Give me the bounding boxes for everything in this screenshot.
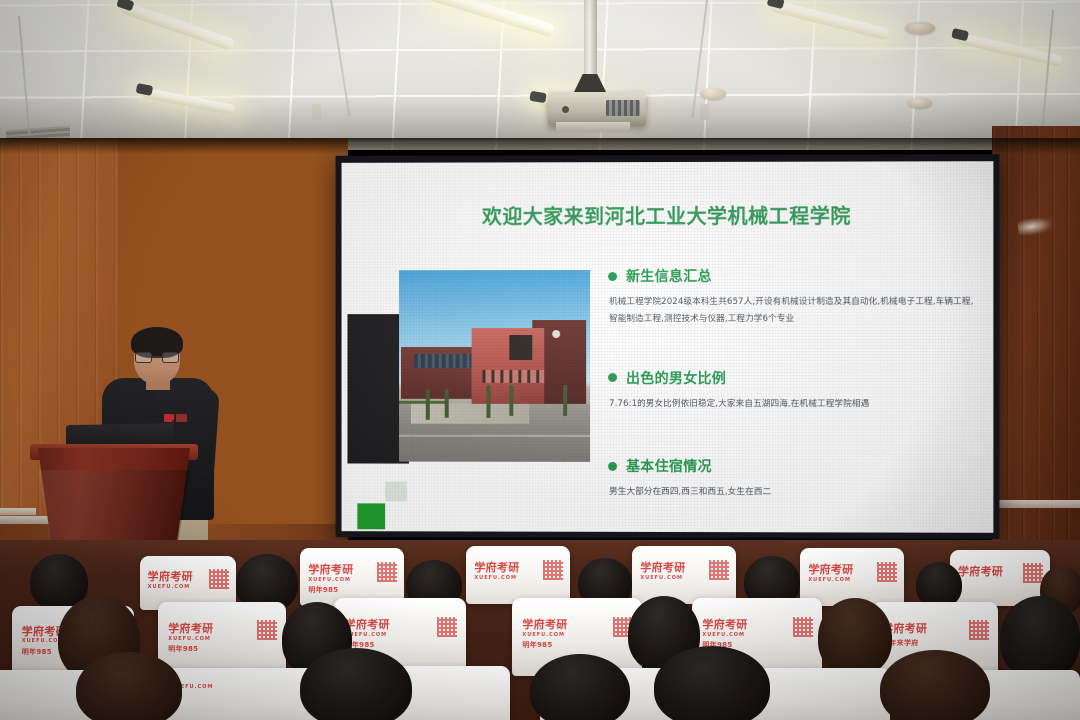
photo-road-marking xyxy=(399,435,590,437)
photo-building-center xyxy=(472,328,545,405)
glasses-icon xyxy=(135,352,179,363)
slide-green-square-decoration xyxy=(357,503,385,529)
audience-head xyxy=(300,648,412,720)
slide-section-1-head: 新生信息汇总 xyxy=(608,266,979,286)
bullet-dot-icon xyxy=(608,373,617,382)
photo-window-dark xyxy=(510,335,533,360)
qr-code-icon xyxy=(1023,563,1043,583)
slide-section-2: 出色的男女比例 7.76:1的男女比例依旧稳定,大家来自五湖四海,在机械工程学院… xyxy=(608,367,979,412)
slide-grey-square-decoration xyxy=(385,481,407,501)
photo-tree xyxy=(563,385,567,416)
chair-brand-slogan: 明年985 xyxy=(308,586,395,595)
glasses-bridge xyxy=(152,356,162,358)
presentation-slide: 欢迎大家来到河北工业大学机械工程学院 xyxy=(342,161,994,533)
audience-head xyxy=(880,650,990,720)
ceiling-downlight xyxy=(905,22,935,34)
audience-head xyxy=(654,646,770,720)
slide-section-3-head: 基本住宿情况 xyxy=(608,456,979,477)
chair-with-cover: 学府考研 XUEFU.COM xyxy=(466,546,570,604)
photo-university-emblem-icon xyxy=(552,330,560,338)
speaker-badge-secondary xyxy=(176,414,187,422)
slide-section-3: 基本住宿情况 男生大部分在西四,西三和西五,女生在西二 xyxy=(608,456,979,502)
wall-trim xyxy=(0,508,36,515)
chair-brand-domain: XUEFU.COM xyxy=(171,684,305,690)
chair-brand-slogan: 明年985 xyxy=(522,641,631,650)
qr-code-icon xyxy=(877,562,897,582)
slide-section-1-heading: 新生信息汇总 xyxy=(626,266,712,286)
photo-tree xyxy=(487,385,491,418)
chair-cover-branding: XUEFU.COM xyxy=(171,684,305,690)
photo-windows-left xyxy=(414,354,471,367)
slide-section-2-head: 出色的男女比例 xyxy=(608,367,979,387)
qr-code-icon xyxy=(793,617,813,637)
qr-code-icon xyxy=(209,569,229,589)
qr-code-icon xyxy=(437,617,457,637)
audience-seating-area: 学府考研 XUEFU.COM 学府考研 XUEFU.COM 明年985 学府考研… xyxy=(0,540,1080,720)
photo-tree xyxy=(445,389,449,418)
photo-tree xyxy=(510,385,514,416)
campus-building-photo xyxy=(399,270,590,462)
slide-section-2-body: 7.76:1的男女比例依旧稳定,大家来自五湖四海,在机械工程学院相遇 xyxy=(609,395,979,412)
projection-screen: 欢迎大家来到河北工业大学机械工程学院 xyxy=(336,154,1000,539)
bullet-dot-icon xyxy=(608,462,617,471)
chair-brand-slogan: 明年985 xyxy=(168,645,276,654)
wall-top-shadow xyxy=(0,138,1080,154)
glasses-lens-right xyxy=(162,352,179,363)
ceiling xyxy=(0,0,1080,150)
slide-section-2-heading: 出色的男女比例 xyxy=(626,367,726,387)
spacer xyxy=(608,422,979,457)
qr-code-icon xyxy=(969,620,989,640)
chair-with-cover: XUEFU.COM xyxy=(158,668,318,720)
audience-head xyxy=(76,652,182,720)
qr-code-icon xyxy=(257,620,277,640)
wall-trim xyxy=(992,500,1080,508)
slide-bullet-list: 新生信息汇总 机械工程学院2024级本科生共657人,开设有机械设计制造及其自动… xyxy=(608,266,979,512)
qr-code-icon xyxy=(709,560,729,580)
bullet-dot-icon xyxy=(608,272,617,281)
spacer xyxy=(608,337,979,367)
slide-title: 欢迎大家来到河北工业大学机械工程学院 xyxy=(342,199,994,229)
wall-right-wood-panel xyxy=(992,126,1080,578)
slide-section-1-body: 机械工程学院2024级本科生共657人,开设有机械设计制造及其自动化,机械电子工… xyxy=(609,294,979,328)
chair-with-cover: 学府考研 XUEFU.COM 明年985 xyxy=(158,602,286,678)
chair-with-cover: 学府考研 XUEFU.COM xyxy=(632,546,736,604)
slide-section-1: 新生信息汇总 机械工程学院2024级本科生共657人,开设有机械设计制造及其自动… xyxy=(608,266,979,328)
audience-head xyxy=(818,598,892,676)
glasses-lens-left xyxy=(135,352,152,363)
slide-section-3-body: 男生大部分在西四,西三和西五,女生在西二 xyxy=(609,484,979,502)
qr-code-icon xyxy=(543,560,563,580)
qr-code-icon xyxy=(377,562,397,582)
audience-head xyxy=(1000,596,1080,680)
photo-tree xyxy=(426,389,430,420)
slide-section-3-heading: 基本住宿情况 xyxy=(626,456,712,476)
lecture-hall-photo: 欢迎大家来到河北工业大学机械工程学院 xyxy=(0,0,1080,720)
audience-head xyxy=(530,654,630,720)
photo-window-row xyxy=(483,370,544,383)
